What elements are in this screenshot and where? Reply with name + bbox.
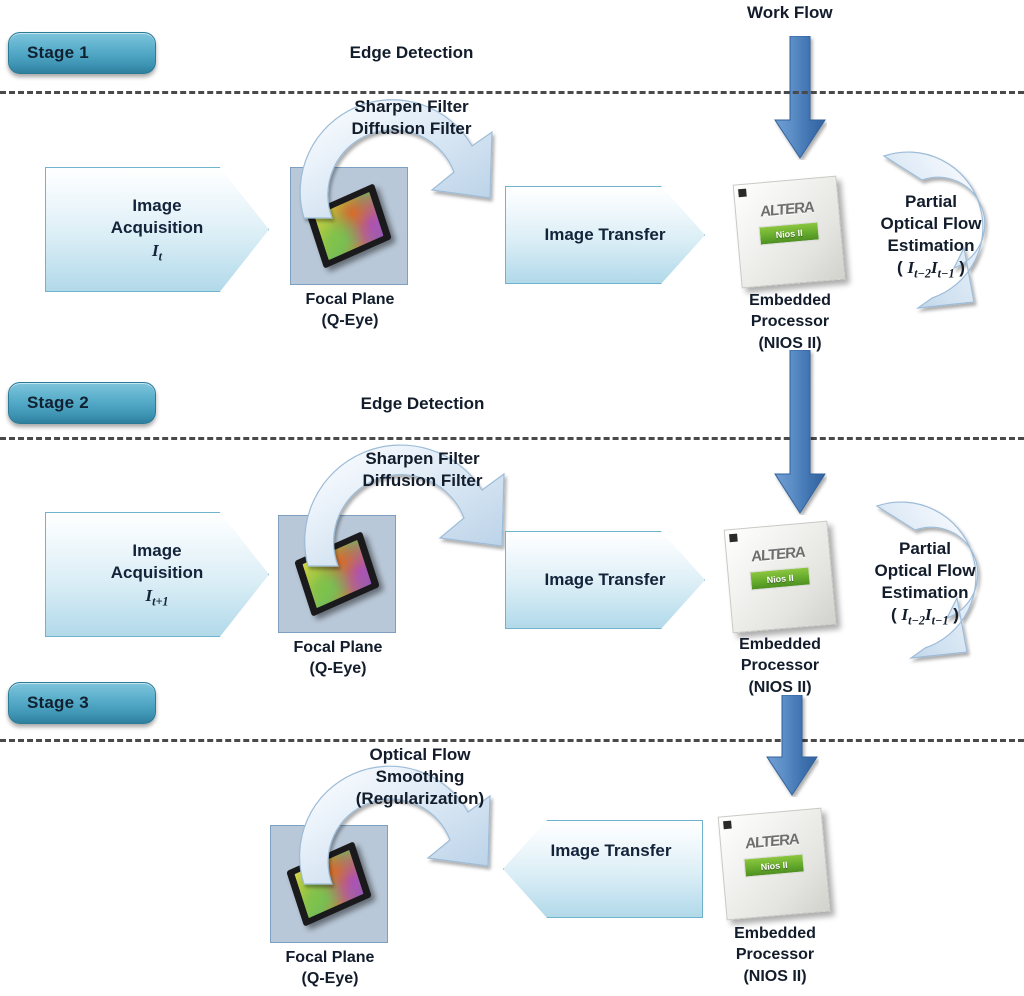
acq2-line2: Acquisition (111, 563, 204, 582)
workflow-arrow-2 (773, 350, 827, 515)
s2-of-l2: Optical Flow (874, 561, 975, 580)
s1-of-l3: Estimation (888, 236, 975, 255)
p2-l2: Processor (741, 657, 819, 674)
s1-loop-l1: Edge Detection (350, 43, 474, 62)
acq-line2: Acquisition (111, 218, 204, 237)
p2-l3: (NIOS II) (748, 679, 811, 696)
p1-l2: Processor (751, 313, 829, 330)
stage2-processor-caption: Embedded Processor (NIOS II) (705, 634, 855, 698)
stage-badge-1[interactable]: Stage 1 (8, 32, 156, 74)
s2-loop-l3: Diffusion Filter (363, 471, 483, 490)
s2-of-formula: ( It−2It−1 ) (891, 605, 959, 624)
stage1-focal-plane-caption: Focal Plane (Q-Eye) (275, 289, 425, 332)
chip-notch-icon (729, 534, 738, 543)
stage-badge-3[interactable]: Stage 3 (8, 682, 156, 724)
f2-b-sub: t−1 (932, 614, 949, 628)
fp1-l1: Focal Plane (306, 291, 395, 308)
stage3-processor-image[interactable]: ALTERA Nios II (718, 808, 831, 921)
f2-close: ) (949, 605, 959, 624)
s3-loop-l3: (Regularization) (356, 789, 484, 808)
p2-l1: Embedded (739, 636, 821, 653)
stage2-loop-label-1: Edge Detection (340, 393, 505, 415)
stage1-processor-image[interactable]: ALTERA Nios II (733, 176, 846, 289)
acq2-line1: Image (132, 541, 181, 560)
chip-notch-icon (738, 189, 747, 198)
s2-loop-l2: Sharpen Filter (365, 449, 479, 468)
acq-symbol: I (152, 241, 159, 260)
stage2-image-transfer-block[interactable]: Image Transfer (505, 531, 705, 629)
s3-loop-l1: Optical Flow (369, 745, 470, 764)
stage-badge-1-label: Stage 1 (27, 43, 89, 63)
stage2-image-transfer-label: Image Transfer (545, 569, 666, 591)
stage1-image-transfer-block[interactable]: Image Transfer (505, 186, 705, 284)
workflow-arrow-1 (773, 36, 827, 160)
stage2-image-acquisition-block[interactable]: Image Acquisition It+1 (45, 512, 269, 637)
acq2-symbol-sub: t+1 (152, 594, 169, 608)
s2-of-l1: Partial (899, 539, 951, 558)
s3-loop-l2: Smoothing (376, 767, 465, 786)
stage3-processor-caption: Embedded Processor (NIOS II) (700, 923, 850, 987)
stage2-optical-flow-label: Partial Optical Flow Estimation ( It−2It… (860, 538, 990, 630)
workflow-title: Work Flow (747, 3, 833, 23)
p3-l1: Embedded (734, 925, 816, 942)
stage1-image-acquisition-block[interactable]: Image Acquisition It (45, 167, 269, 292)
s1-loop-l3: Diffusion Filter (352, 119, 472, 138)
stage2-loop-label-2: Sharpen Filter Diffusion Filter (340, 448, 505, 492)
s2-loop-l1: Edge Detection (361, 394, 485, 413)
stage1-loop-label-2: Sharpen Filter Diffusion Filter (329, 96, 494, 140)
s1-of-formula: ( It−2It−1 ) (897, 258, 965, 277)
fp3-l2: (Q-Eye) (302, 970, 359, 987)
workflow-arrow-3 (765, 695, 819, 797)
p3-l2: Processor (736, 946, 814, 963)
stage1-optical-flow-label: Partial Optical Flow Estimation ( It−2It… (866, 191, 996, 283)
stage1-processor-caption: Embedded Processor (NIOS II) (715, 290, 865, 354)
s1-loop-l2: Sharpen Filter (354, 97, 468, 116)
s1-of-l2: Optical Flow (880, 214, 981, 233)
stage1-image-transfer-label: Image Transfer (545, 224, 666, 246)
fp3-l1: Focal Plane (286, 949, 375, 966)
stage-badge-2[interactable]: Stage 2 (8, 382, 156, 424)
f2-b: I (925, 605, 932, 624)
f-open: ( (897, 258, 907, 277)
stage3-loop-label: Optical Flow Smoothing (Regularization) (330, 744, 510, 810)
stage1-image-acquisition-label: Image Acquisition It (111, 195, 204, 264)
chip-notch-icon (723, 821, 732, 830)
f-b: I (931, 258, 938, 277)
stage-badge-2-label: Stage 2 (27, 393, 89, 413)
f-a-sub: t−2 (914, 267, 931, 281)
acq-line1: Image (132, 196, 181, 215)
stage-divider-2 (0, 437, 1024, 440)
stage3-focal-plane-caption: Focal Plane (Q-Eye) (255, 947, 405, 990)
stage3-image-transfer-block[interactable]: Image Transfer (503, 820, 703, 918)
acq-symbol-sub: t (159, 249, 162, 263)
f2-a-sub: t−2 (908, 614, 925, 628)
stage2-image-acquisition-label: Image Acquisition It+1 (111, 540, 204, 609)
stage2-processor-image[interactable]: ALTERA Nios II (724, 521, 837, 634)
fp1-l2: (Q-Eye) (322, 312, 379, 329)
s2-of-l3: Estimation (882, 583, 969, 602)
f-b-sub: t−1 (938, 267, 955, 281)
p1-l1: Embedded (749, 292, 831, 309)
f2-open: ( (891, 605, 901, 624)
stage2-focal-plane-caption: Focal Plane (Q-Eye) (263, 637, 413, 680)
stage1-loop-label-1: Edge Detection (329, 42, 494, 64)
stage-badge-3-label: Stage 3 (27, 693, 89, 713)
stage3-image-transfer-label: Image Transfer (551, 840, 672, 862)
fp2-l1: Focal Plane (294, 639, 383, 656)
s1-of-l1: Partial (905, 192, 957, 211)
fp2-l2: (Q-Eye) (310, 660, 367, 677)
workflow-diagram: Work Flow Stage 1 Stage 2 Stage 3 Image … (0, 0, 1024, 996)
f-close: ) (955, 258, 965, 277)
p3-l3: (NIOS II) (743, 968, 806, 985)
stage-divider-3 (0, 739, 1024, 742)
stage-divider-1 (0, 91, 1024, 94)
